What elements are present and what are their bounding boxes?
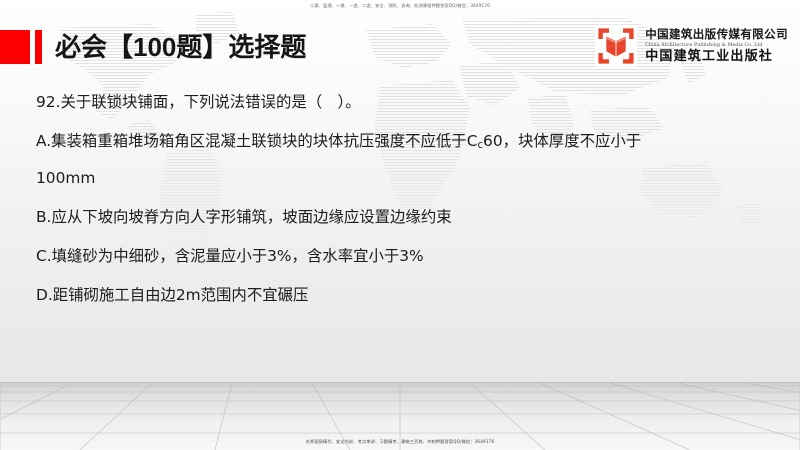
slide-title-block: 必会【100题】选择题 <box>0 27 306 67</box>
question-content: 92.关于联锁块铺面，下列说法错误的是（ ）。 A.集装箱重箱堆场箱角区混凝土联… <box>36 86 736 312</box>
slide-header: 二建、监理、一建、一造、二造、安全、消防、咨询、检测课程押题答案QQ/微信：36… <box>0 0 800 78</box>
publisher-logo-text: 中国建筑出版传媒有限公司 China Architecture Publishi… <box>645 28 788 65</box>
page-title: 必会【100题】选择题 <box>55 30 306 64</box>
question-stem: 92.关于联锁块铺面，下列说法错误的是（ ）。 <box>36 86 736 119</box>
option-d: D.距铺砌施工自由边2m范围内不宜碾压 <box>36 279 736 312</box>
perspective-floor: 名师面授精华、安全内训、考点串讲、习题精考、建筑三百练、冲刺押题答案QQ/微信：… <box>0 383 800 450</box>
option-a: A.集装箱重箱堆场箱角区混凝土联锁块的块体抗压强度不应低于Cc60，块体厚度不应… <box>36 125 696 195</box>
open-book-logo-icon <box>594 24 638 68</box>
publisher-press-cn: 中国建筑工业出版社 <box>645 49 788 65</box>
option-c: C.填缝砂为中细砂，含泥量应小于3%，含水率宜小于3% <box>36 240 736 273</box>
publisher-company-en: China Architecture Publishing & Media Co… <box>645 42 788 49</box>
option-a-text-before: A.集装箱重箱堆场箱角区混凝土联锁块的块体抗压强度不应低于C <box>36 132 477 150</box>
option-b: B.应从下坡向坡脊方向人字形铺筑，坡面边缘应设置边缘约束 <box>36 201 736 234</box>
publisher-logo: 中国建筑出版传媒有限公司 China Architecture Publishi… <box>594 23 788 69</box>
slide-root: 二建、监理、一建、一造、二造、安全、消防、咨询、检测课程押题答案QQ/微信：36… <box>0 0 800 450</box>
footer-micro-note: 名师面授精华、安全内训、考点串讲、习题精考、建筑三百练、冲刺押题答案QQ/微信：… <box>0 439 800 445</box>
publisher-company-cn: 中国建筑出版传媒有限公司 <box>645 28 788 42</box>
title-red-bar-icon <box>35 30 42 64</box>
header-micro-banner: 二建、监理、一建、一造、二造、安全、消防、咨询、检测课程押题答案QQ/微信：36… <box>0 3 800 9</box>
title-red-block-icon <box>0 30 30 64</box>
